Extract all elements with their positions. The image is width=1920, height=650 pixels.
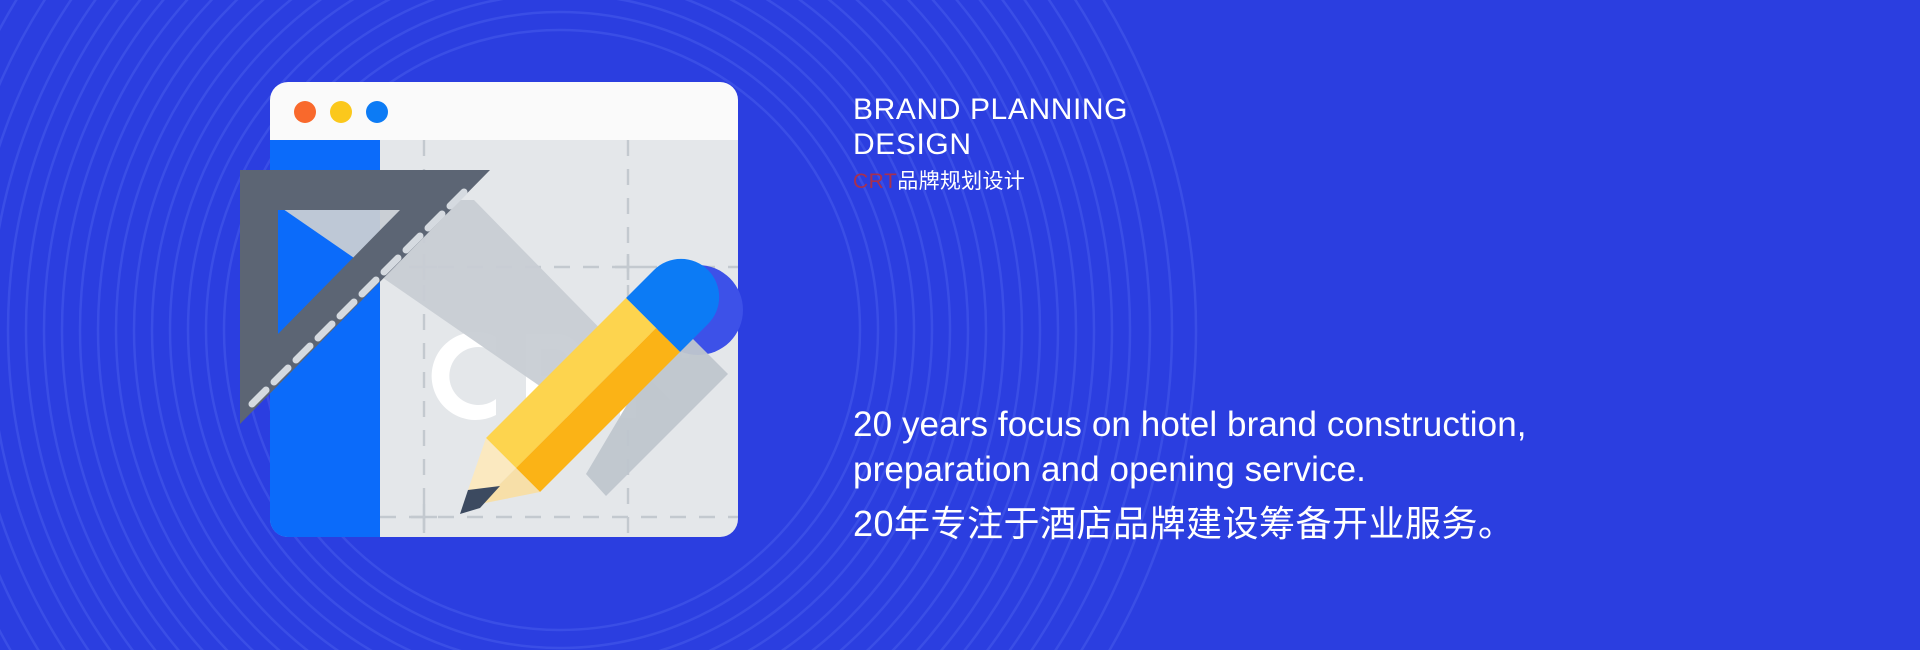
- brand-design-illustration: [228, 82, 848, 564]
- brand-banner: BRAND PLANNING DESIGN CRT品牌规划设计 20 years…: [0, 0, 1920, 650]
- subtitle: CRT品牌规划设计: [853, 169, 1553, 194]
- tagline-english: 20 years focus on hotel brand constructi…: [853, 402, 1793, 492]
- subtitle-chinese-text: 品牌规划设计: [897, 170, 1025, 193]
- tagline-block: 20 years focus on hotel brand constructi…: [853, 402, 1793, 546]
- maximize-dot: [366, 101, 388, 123]
- page-title: BRAND PLANNING DESIGN: [853, 92, 1553, 162]
- minimize-dot: [330, 101, 352, 123]
- heading-block: BRAND PLANNING DESIGN CRT品牌规划设计: [853, 92, 1553, 194]
- banner-text-column: BRAND PLANNING DESIGN CRT品牌规划设计 20 years…: [853, 0, 1863, 650]
- tagline-chinese: 20年专注于酒店品牌建设筹备开业服务。: [853, 502, 1793, 546]
- subtitle-brand-mark: CRT: [853, 170, 897, 193]
- close-dot: [294, 101, 316, 123]
